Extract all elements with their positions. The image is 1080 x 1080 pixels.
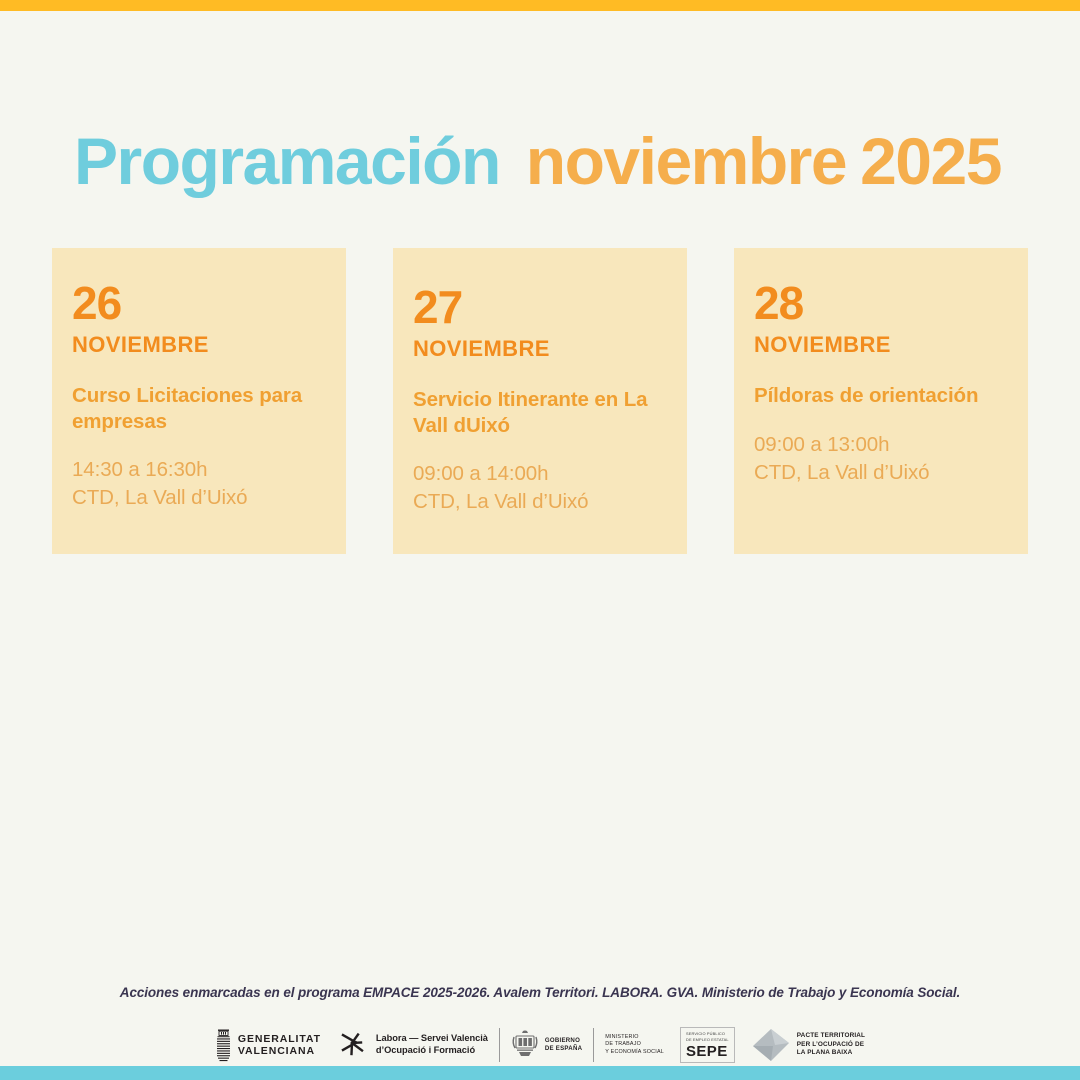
labora-label: Labora — Servei Valencià d’Ocupació i Fo… (376, 1033, 488, 1056)
event-day: 27 (413, 284, 677, 330)
logo-gobierno-de-espana: GOBIERNO DE ESPAÑA (511, 1030, 582, 1060)
ministerio-line3: Y ECONOMÍA SOCIAL (605, 1049, 664, 1056)
event-time: 09:00 a 14:00h (413, 460, 677, 488)
top-accent-bar (0, 0, 1080, 11)
ministerio-line1: MINISTERIO (605, 1034, 664, 1041)
logo-ministerio-trabajo: MINISTERIO DE TRABAJO Y ECONOMÍA SOCIAL (605, 1034, 664, 1056)
title-word-year: 2025 (860, 124, 1001, 198)
pacte-diamond-icon (751, 1028, 791, 1062)
page-title: Programaciónnoviembre2025 (74, 128, 1014, 194)
sepe-box: SERVICIO PÚBLICO DE EMPLEO ESTATAL SEPE (680, 1027, 735, 1063)
poster-canvas: Programaciónnoviembre2025 26 NOVIEMBRE C… (0, 0, 1080, 1080)
event-day: 28 (754, 280, 1018, 326)
event-title: Curso Licitaciones para empresas (72, 383, 336, 434)
sepe-acronym: SEPE (686, 1044, 728, 1059)
labora-mark-icon (341, 1032, 368, 1058)
gobierno-line1: GOBIERNO (545, 1037, 582, 1045)
logo-divider (499, 1028, 500, 1062)
event-location: CTD, La Vall d’Uixó (72, 484, 336, 512)
labora-line1: Labora — Servei Valencià (376, 1033, 488, 1045)
event-month: NOVIEMBRE (754, 333, 1018, 357)
logo-labora: Labora — Servei Valencià d’Ocupació i Fo… (341, 1032, 488, 1058)
logo-strip: GENERALITAT VALENCIANA Labora — Servei V… (0, 1022, 1080, 1068)
gobierno-label: GOBIERNO DE ESPAÑA (545, 1037, 582, 1053)
event-location: CTD, La Vall d’Uixó (754, 459, 1018, 487)
gobierno-line2: DE ESPAÑA (545, 1045, 582, 1053)
pacte-line2: PER L’OCUPACIÓ DE (797, 1041, 865, 1050)
ministerio-label: MINISTERIO DE TRABAJO Y ECONOMÍA SOCIAL (605, 1034, 664, 1056)
logo-divider (593, 1028, 594, 1062)
event-time: 09:00 a 13:00h (754, 431, 1018, 459)
pacte-line3: LA PLANA BAIXA (797, 1049, 865, 1058)
title-word-month: noviembre (526, 124, 846, 198)
event-card-list: 26 NOVIEMBRE Curso Licitaciones para emp… (52, 248, 1028, 554)
ministerio-line2: DE TRABAJO (605, 1041, 664, 1048)
labora-line2: d’Ocupació i Formació (376, 1045, 488, 1057)
logo-sepe: SERVICIO PÚBLICO DE EMPLEO ESTATAL SEPE (680, 1027, 735, 1063)
event-month: NOVIEMBRE (72, 333, 336, 357)
generalitat-line1: GENERALITAT (238, 1033, 321, 1045)
event-card[interactable]: 28 NOVIEMBRE Píldoras de orientación 09:… (734, 248, 1028, 554)
generalitat-crest-icon (215, 1028, 232, 1062)
generalitat-line2: VALENCIANA (238, 1045, 321, 1057)
bottom-accent-bar (0, 1066, 1080, 1080)
pacte-label: PACTE TERRITORIAL PER L’OCUPACIÓ DE LA P… (797, 1032, 865, 1058)
event-card[interactable]: 26 NOVIEMBRE Curso Licitaciones para emp… (52, 248, 346, 554)
logo-pacte-territorial: PACTE TERRITORIAL PER L’OCUPACIÓ DE LA P… (751, 1028, 865, 1062)
sepe-subtitle-line2: DE EMPLEO ESTATAL (686, 1037, 729, 1042)
title-word-programacion: Programación (74, 124, 500, 198)
event-time: 14:30 a 16:30h (72, 456, 336, 484)
event-location: CTD, La Vall d’Uixó (413, 488, 677, 516)
generalitat-label: GENERALITAT VALENCIANA (238, 1033, 321, 1058)
event-month: NOVIEMBRE (413, 337, 677, 361)
event-card[interactable]: 27 NOVIEMBRE Servicio Itinerante en La V… (393, 248, 687, 554)
spain-coat-of-arms-icon (511, 1030, 539, 1060)
pacte-line1: PACTE TERRITORIAL (797, 1032, 865, 1041)
event-title: Servicio Itinerante en La Vall dUixó (413, 387, 677, 438)
event-day: 26 (72, 280, 336, 326)
event-title: Píldoras de orientación (754, 383, 1018, 408)
footer-disclaimer: Acciones enmarcadas en el programa EMPAC… (0, 985, 1080, 1000)
logo-generalitat-valenciana: GENERALITAT VALENCIANA (215, 1028, 321, 1062)
